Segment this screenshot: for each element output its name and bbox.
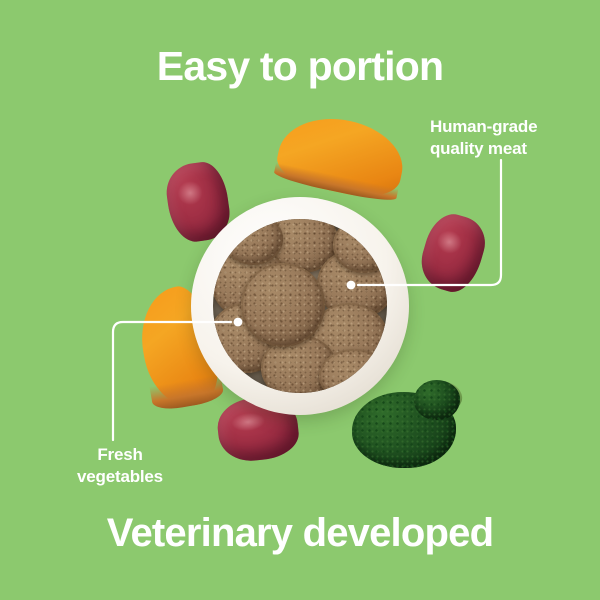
callout-line-2: vegetables: [56, 466, 184, 488]
food-patty: [241, 263, 325, 347]
headline-bottom: Veterinary developed: [0, 513, 600, 553]
food-composition: [0, 0, 600, 600]
food-patty: [319, 349, 387, 393]
callout-label-fresh-vegetables: Fresh vegetables: [56, 444, 184, 488]
callout-line-2: quality meat: [430, 138, 590, 160]
pumpkin-slice-top-icon: [273, 108, 410, 204]
callout-line-1: Human-grade: [430, 116, 590, 138]
broccoli-texture-small: [414, 380, 460, 420]
bowl-interior: [213, 219, 387, 393]
broccoli-head-small: [414, 380, 460, 420]
callout-line-1: Fresh: [56, 444, 184, 466]
product-feature-image: Easy to portion Veterinary developed Hum…: [0, 0, 600, 600]
meat-chunk-right-icon: [415, 208, 492, 297]
callout-label-human-grade: Human-grade quality meat: [430, 116, 590, 160]
headline-top: Easy to portion: [0, 46, 600, 87]
food-bowl: [191, 197, 409, 415]
